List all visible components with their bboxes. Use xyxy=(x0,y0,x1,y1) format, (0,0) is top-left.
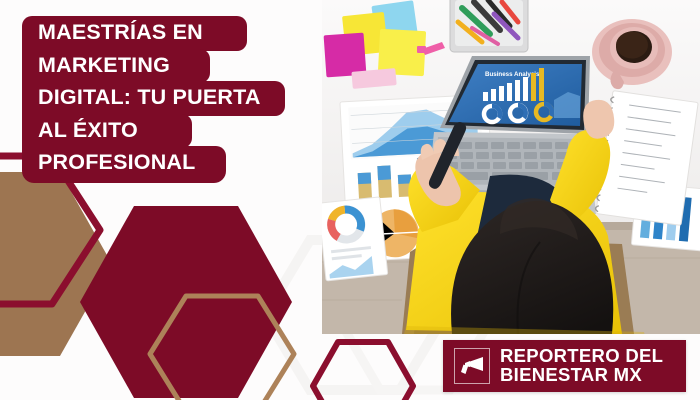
megaphone-icon xyxy=(454,348,490,384)
title-line-5: PROFESIONAL xyxy=(22,146,226,183)
title-line-2: MARKETING xyxy=(22,49,210,84)
page-title: MAESTRÍAS EN MARKETING DIGITAL: TU PUERT… xyxy=(22,16,285,181)
title-line-4: AL ÉXITO xyxy=(22,114,192,149)
crimson-hexagon-outline-small xyxy=(306,338,426,400)
brand-name: REPORTERO DEL BIENESTAR MX xyxy=(500,347,663,385)
title-line-1: MAESTRÍAS EN xyxy=(22,16,247,51)
tan-hexagon-outline-bottom xyxy=(140,290,320,400)
banner-canvas: Business Analysis xyxy=(0,0,700,400)
brand-name-line-2: BIENESTAR MX xyxy=(500,366,663,385)
title-line-3: DIGITAL: TU PUERTA xyxy=(22,81,285,116)
brand-logo-bar[interactable]: REPORTERO DEL BIENESTAR MX xyxy=(443,340,686,392)
